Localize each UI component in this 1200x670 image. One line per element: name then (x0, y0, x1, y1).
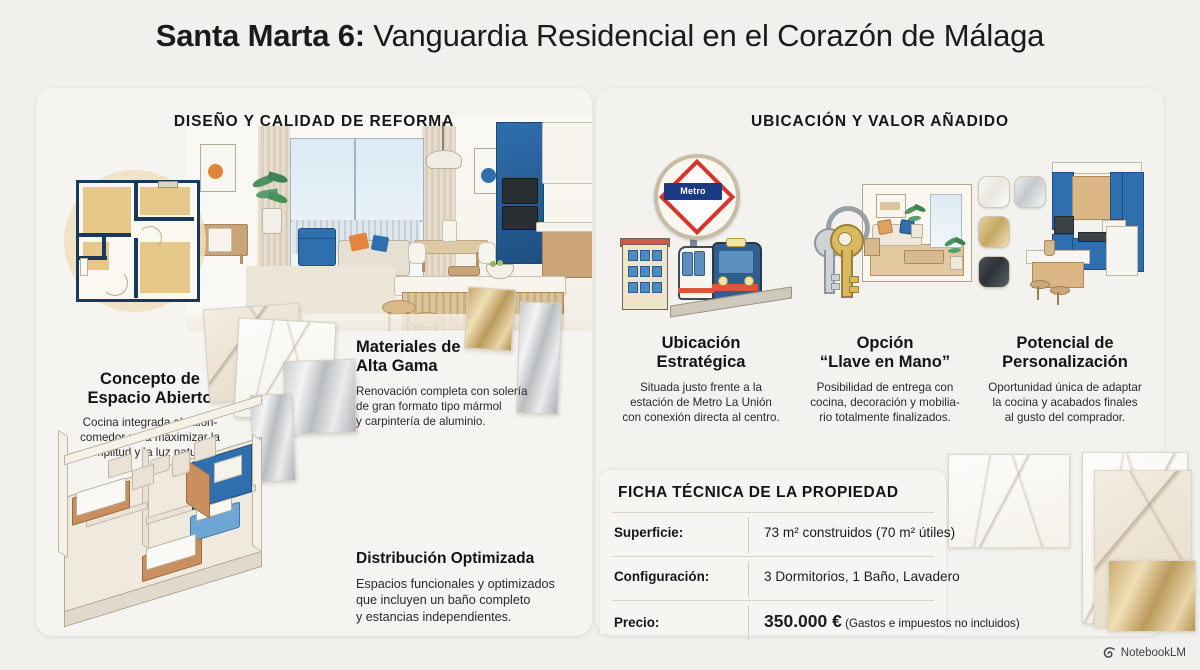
feature-turnkey-option-body: Posibilidad de entrega con cocina, decor… (792, 381, 978, 426)
heading-line-1: Ubicación (662, 334, 741, 352)
feature-turnkey-option: Opción “Llave en Mano” Posibilidad de en… (792, 334, 978, 425)
spec-sheet-title: FICHA TÉCNICA DE LA PROPIEDAD (618, 484, 899, 502)
body-line-2: de gran formato tipo mármol (356, 400, 502, 413)
swatch-dark (978, 256, 1010, 288)
feature-premium-materials-body: Renovación completa con solería de gran … (356, 385, 586, 430)
swatch-silver (1014, 176, 1046, 208)
body-line-2: la cocina y acabados finales (992, 396, 1137, 409)
feature-turnkey-option-heading: Opción “Llave en Mano” (792, 334, 978, 373)
feature-premium-materials-heading: Materiales de Alta Gama (356, 338, 586, 377)
heading-line-2: “Llave en Mano” (820, 353, 950, 371)
living-room-render (186, 116, 592, 331)
feature-strategic-location-body: Situada justo frente a la estación de Me… (606, 381, 796, 426)
page-title: Santa Marta 6: Vanguardia Residencial en… (0, 18, 1200, 54)
body-line-3: rio totalmente finalizados. (819, 411, 950, 424)
heading-line-2: Personalización (1002, 353, 1128, 371)
property-spec-sheet: FICHA TÉCNICA DE LA PROPIEDAD Superficie… (600, 470, 946, 634)
swatch-gold (978, 216, 1010, 248)
body-line-1: Oportunidad única de adaptar (988, 381, 1141, 394)
keys-turnkey-icon (800, 180, 980, 310)
notebooklm-label: NotebookLM (1121, 647, 1186, 659)
spec-value-superficie: 73 m² construidos (70 m² útiles) (764, 525, 955, 540)
body-line-3: con conexión directa al centro. (622, 411, 779, 424)
spec-row-configuracion: Configuración: 3 Dormitorios, 1 Baño, La… (614, 558, 1174, 600)
heading-line-1: Concepto de (100, 370, 200, 388)
body-line-2: cocina, decoración y mobilia- (810, 396, 960, 409)
metro-sign-label: Metro (664, 183, 722, 200)
spec-label-precio: Precio: (614, 615, 659, 630)
feature-optimized-layout-body: Espacios funcionales y optimizados que i… (356, 576, 592, 625)
body-line-2: que incluyen un baño completo (356, 593, 530, 607)
body-line-3: y carpintería de aluminio. (356, 415, 486, 428)
feature-premium-materials: Materiales de Alta Gama Renovación compl… (356, 338, 586, 429)
body-line-3: al gusto del comprador. (1005, 411, 1126, 424)
body-line-2: estación de Metro La Unión (630, 396, 772, 409)
body-line-1: Situada justo frente a la (640, 381, 762, 394)
feature-customization-potential-heading: Potencial de Personalización (970, 334, 1160, 373)
spec-row-precio: Precio: 350.000 € (Gastos e impuestos no… (614, 602, 1174, 644)
feature-strategic-location-heading: Ubicación Estratégica (606, 334, 796, 373)
spec-value-configuracion: 3 Dormitorios, 1 Baño, Lavadero (764, 569, 960, 584)
spec-label-configuracion: Configuración: (614, 569, 709, 584)
feature-customization-potential: Potencial de Personalización Oportunidad… (970, 334, 1160, 425)
isometric-apartment-icon (46, 423, 336, 628)
floorplan-2d-icon (76, 180, 200, 302)
price-amount: 350.000 € (764, 611, 842, 631)
notebooklm-spiral-icon (1102, 646, 1116, 660)
design-quality-panel: DISEÑO Y CALIDAD DE REFORMA Concepto de (36, 88, 592, 636)
heading-line-2: Alta Gama (356, 357, 438, 375)
spec-row-superficie: Superficie: 73 m² construidos (70 m² úti… (614, 514, 1174, 556)
feature-optimized-layout: Distribución Optimizada Espacios funcion… (356, 550, 592, 625)
body-line-1: Posibilidad de entrega con (817, 381, 954, 394)
body-line-3: y estancias independientes. (356, 610, 511, 624)
heading-line-1: Materiales de (356, 338, 461, 356)
heading-line-2: Estratégica (657, 353, 746, 371)
heading-line-1: Potencial de (1016, 334, 1113, 352)
swatch-white (978, 176, 1010, 208)
spec-label-superficie: Superficie: (614, 525, 683, 540)
feature-strategic-location: Ubicación Estratégica Situada justo fren… (606, 334, 796, 425)
body-line-1: Renovación completa con solería (356, 385, 527, 398)
page-title-strong: Santa Marta 6: (156, 18, 365, 53)
kitchen-customization-icon (974, 154, 1154, 312)
spec-value-precio: 350.000 € (Gastos e impuestos no incluid… (764, 611, 1020, 632)
heading-line-2: Espacio Abierto (88, 389, 213, 407)
price-note: (Gastos e impuestos no incluidos) (842, 617, 1020, 630)
page-title-rest: Vanguardia Residencial en el Corazón de … (365, 18, 1044, 53)
infographic-page: Santa Marta 6: Vanguardia Residencial en… (0, 0, 1200, 670)
feature-optimized-layout-heading: Distribución Optimizada (356, 550, 592, 568)
notebooklm-watermark: NotebookLM (1102, 646, 1186, 660)
metro-station-icon: Metro (618, 150, 818, 312)
feature-customization-potential-body: Oportunidad única de adaptar la cocina y… (970, 381, 1160, 426)
left-section-heading: DISEÑO Y CALIDAD DE REFORMA (36, 113, 592, 131)
heading-line-1: Opción (857, 334, 914, 352)
right-section-heading: UBICACIÓN Y VALOR AÑADIDO (596, 113, 1164, 131)
body-line-1: Espacios funcionales y optimizados (356, 577, 555, 591)
